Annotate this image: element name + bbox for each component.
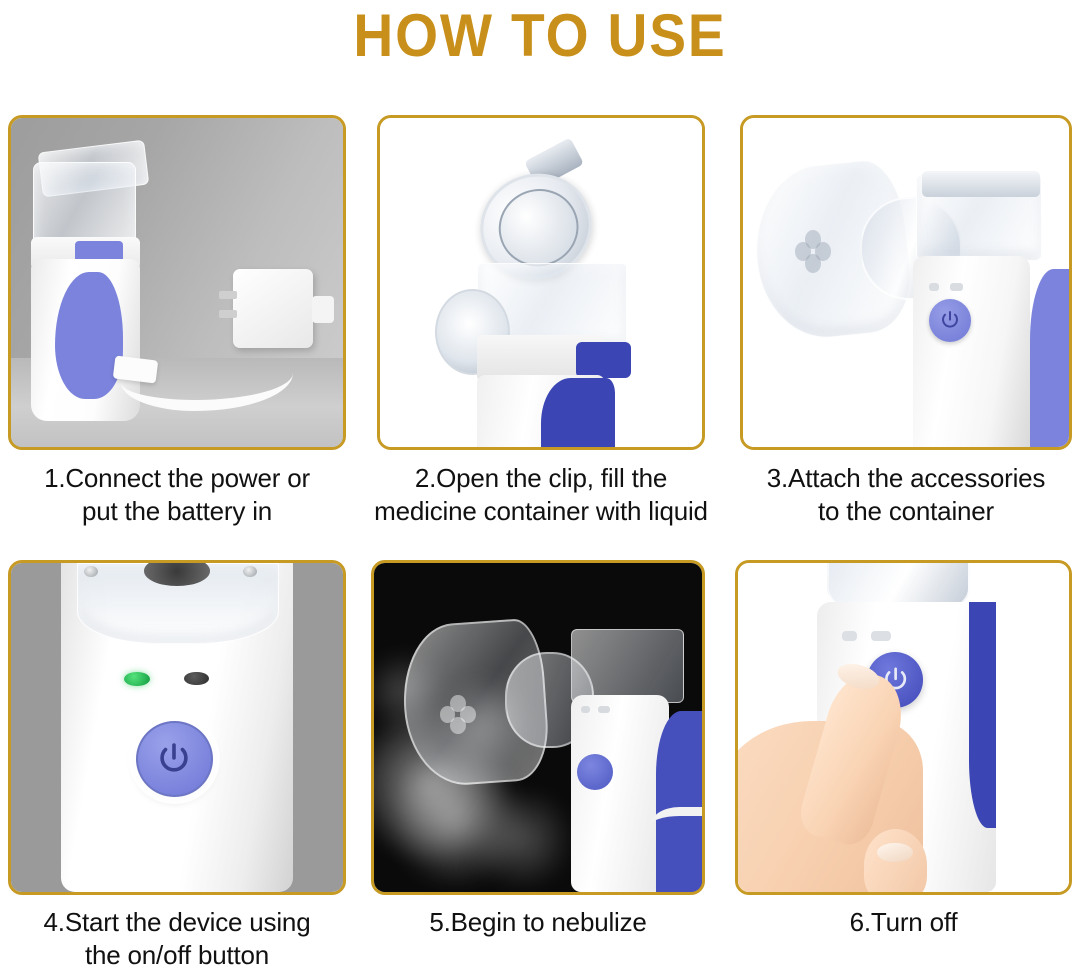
power-icon [155,740,193,778]
power-button[interactable] [929,299,971,342]
step-1-caption-line-1: 1.Connect the power or [8,462,346,495]
step-3-photo-card [740,115,1072,450]
container-clip [922,171,1039,197]
adapter-prong [219,310,237,318]
adapter-prong [219,291,237,299]
step-2-photo-card [377,115,705,450]
usb-cable [650,807,702,846]
power-icon [939,309,961,331]
step-3-caption: 3.Attach the accessories to the containe… [740,462,1072,529]
push-tab [576,342,631,378]
step-4-photo [11,563,343,892]
step-4-caption-line-1: 4.Start the device using [8,906,346,939]
step-6-photo-card [735,560,1072,895]
battery-indicator-led-off [184,672,209,686]
step-1-caption: 1.Connect the power or put the battery i… [8,462,346,529]
indicator-led [842,631,856,640]
step-2-caption: 2.Open the clip, fill the medicine conta… [362,462,720,529]
step-3-caption-line-1: 3.Attach the accessories [740,462,1072,495]
step-2-caption-line-1: 2.Open the clip, fill the [362,462,720,495]
how-to-use-infographic: HOW TO USE 1.Connect the power or [0,0,1080,980]
indicator-led [950,283,963,291]
step-2-photo [380,118,702,447]
step-1-photo-card [8,115,346,450]
step-4-caption: 4.Start the device using the on/off butt… [8,906,346,973]
periwinkle-accent-panel [55,272,123,399]
indicator-led [598,706,610,713]
step-1-caption-line-2: put the battery in [8,495,346,528]
indicator-led [581,706,591,713]
power-button[interactable] [136,721,213,797]
step-5-photo-card [371,560,705,895]
mask-vent-holes [440,695,476,734]
step-5-caption: 5.Begin to nebulize [371,906,705,939]
blue-accent-panel [541,378,615,447]
step-6-photo [738,563,1069,892]
step-4-caption-line-2: the on/off button [8,939,346,972]
step-1-photo [11,118,343,447]
step-6-caption-line-1: 6.Turn off [735,906,1072,939]
step-2-caption-line-2: medicine container with liquid [362,495,720,528]
step-5-caption-line-1: 5.Begin to nebulize [371,906,705,939]
adapter-usb-port [312,296,334,323]
vent-hole [805,254,821,273]
device-body [571,695,669,892]
page-title: HOW TO USE [43,4,1037,67]
step-5-photo [374,563,702,892]
mask-vent-holes [795,230,831,273]
blue-accent-panel [656,711,702,892]
device-body [913,256,1030,447]
mist-cloud [459,793,584,885]
step-3-photo [743,118,1069,447]
power-adapter [233,269,313,348]
vent-hole [450,717,466,734]
step-6-caption: 6.Turn off [735,906,1072,939]
step-4-photo-card [8,560,346,895]
blue-accent-panel [969,602,996,828]
indicator-led [929,283,940,291]
periwinkle-accent-panel [1030,269,1069,447]
indicator-led [871,631,891,640]
medicine-container [571,629,685,703]
step-3-caption-line-2: to the container [740,495,1072,528]
